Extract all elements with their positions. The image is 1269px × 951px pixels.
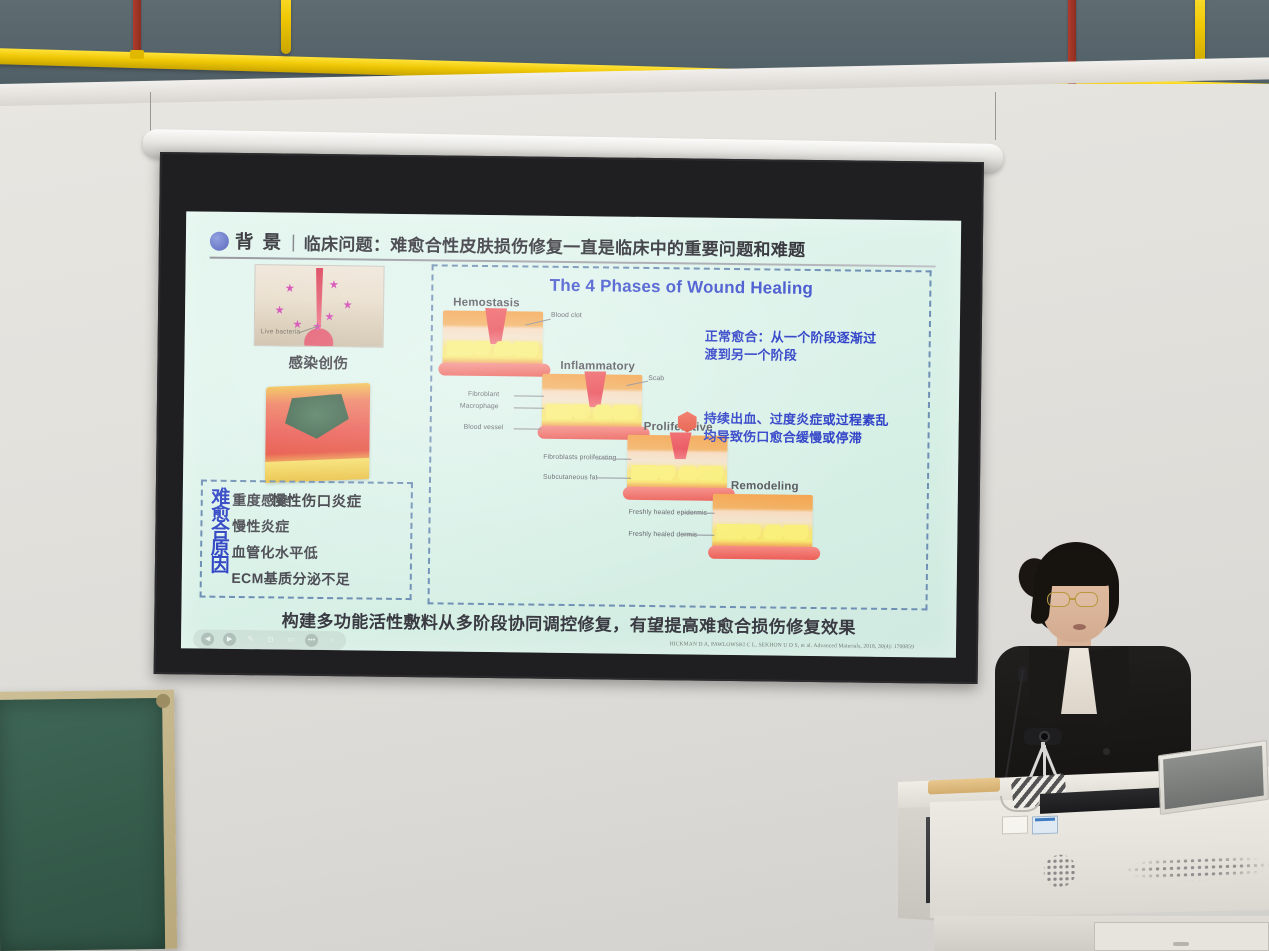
pipe-clamp-left	[130, 50, 144, 59]
reason-list: 重度感染 慢性炎症 血管化水平低 ECM基质分泌不足	[231, 487, 351, 592]
mouth	[1073, 624, 1086, 630]
yellow-gas-pipe-riser-left	[281, 0, 291, 54]
pen-tool-icon[interactable]: ✎	[245, 633, 256, 646]
blood-vessel-shape	[438, 362, 550, 376]
wound-gash	[485, 308, 507, 344]
slide-title-separator: |	[291, 231, 296, 252]
skin-block-hemostasis	[442, 310, 543, 369]
reason-item: 血管化水平低	[232, 542, 351, 563]
eyeglasses-left-lens	[1047, 592, 1070, 607]
bacteria-icon	[285, 284, 294, 293]
annotation-macrophage: Macrophage	[460, 403, 499, 412]
blackboard	[0, 690, 177, 951]
plate-header-bar	[1035, 818, 1055, 822]
phases-title: The 4 Phases of Wound Healing	[550, 276, 814, 299]
wound-gash	[584, 371, 606, 407]
slide-citation: HICKMAN D A, PAWLOWSKI C L, SEKHON U D S…	[670, 641, 914, 650]
zoom-tool-icon[interactable]: ⊡	[265, 633, 276, 646]
presenter-view-icon[interactable]: ▭	[285, 634, 296, 647]
podium-info-plate	[1032, 816, 1058, 835]
pipe-support-bracket-left	[133, 0, 141, 56]
skin-block-remodeling	[712, 494, 813, 553]
bacteria-icon	[325, 312, 334, 321]
previous-slide-icon[interactable]: ◀	[201, 633, 214, 646]
lecture-room-scene: 背 景 | 临床问题：难愈合性皮肤损伤修复一直是临床中的重要问题和难题	[0, 0, 1269, 951]
annotation-subcutaneous-fat: Subcutaneous fat	[543, 474, 598, 483]
infected-wound-illustration: Live bacteria	[254, 264, 385, 348]
screen-hanging-cord-left	[150, 92, 151, 132]
note-abnormal-healing: 持续出血、过度炎症或过程素乱均导致伤口愈合缓慢或停滞	[703, 410, 889, 447]
live-bacteria-label: Live bacteria	[261, 328, 301, 335]
bacteria-icon	[293, 320, 302, 329]
hexagon-bullet-icon	[678, 411, 697, 432]
podium-dot-leaf-pattern	[1126, 848, 1269, 889]
leader-line	[514, 428, 542, 429]
bacteria-icon	[275, 305, 284, 314]
phase-label-inflammatory: Inflammatory	[560, 360, 635, 373]
presentation-control-bar[interactable]: ◀ ▶ ✎ ⊡ ▭ ••• ‹	[193, 629, 346, 650]
blackboard-corner-cap	[156, 694, 170, 708]
leader-line	[514, 395, 544, 396]
phase-label-remodeling: Remodeling	[731, 480, 799, 493]
note-abnormal-healing-row: 持续出血、过度炎症或过程素乱均导致伤口愈合缓慢或停滞	[677, 409, 889, 447]
wound-healing-panel: The 4 Phases of Wound Healing Hemostasis…	[427, 264, 931, 610]
annotation-scab: Scab	[648, 375, 664, 383]
more-options-icon[interactable]: •••	[305, 634, 318, 647]
podium-dot-logo-pattern	[1034, 845, 1086, 897]
reason-item: ECM基质分泌不足	[231, 568, 350, 589]
leader-line	[514, 407, 544, 408]
annotation-blood-clot: Blood clot	[551, 312, 582, 321]
bacteria-icon	[343, 300, 352, 309]
phase-label-hemostasis: Hemostasis	[453, 297, 520, 310]
left-column: Live bacteria 感染创伤 慢性伤口炎症	[217, 264, 420, 512]
eyeglasses-right-lens	[1075, 592, 1098, 607]
laptop-screen[interactable]	[1163, 746, 1264, 810]
podium-drawer-handle[interactable]	[1173, 942, 1189, 946]
skin-block-inflammatory	[542, 374, 643, 433]
reason-item: 重度感染	[232, 490, 351, 511]
podium-drawer[interactable]	[1094, 922, 1269, 951]
webcam-lens	[1039, 731, 1050, 742]
annotation-blood-vessel: Blood vessel	[464, 424, 504, 433]
bacteria-icon	[329, 280, 338, 289]
blood-vessel-shape	[708, 546, 820, 560]
reason-vertical-label: 难愈合原因	[210, 487, 227, 591]
presentation-slide[interactable]: 背 景 | 临床问题：难愈合性皮肤损伤修复一直是临床中的重要问题和难题	[181, 211, 961, 657]
next-slide-icon[interactable]: ▶	[223, 633, 236, 646]
screen-hanging-cord-right	[995, 92, 996, 140]
note-normal-healing: 正常愈合：从一个阶段逐渐过渡到另一个阶段	[704, 328, 886, 365]
infected-wound-caption: 感染创伤	[218, 351, 418, 374]
collapse-icon[interactable]: ‹	[327, 634, 338, 647]
eyeglasses-bridge	[1070, 598, 1075, 600]
leader-line	[597, 477, 631, 478]
slide-title-main: 背 景	[235, 228, 283, 255]
blackboard-surface	[0, 698, 165, 951]
jacket-button	[1103, 748, 1110, 755]
annotation-fibroblant: Fibroblant	[468, 391, 499, 400]
projector-screen: 背 景 | 临床问题：难愈合性皮肤损伤修复一直是临床中的重要问题和难题	[154, 152, 984, 684]
chronic-wound-illustration	[265, 383, 370, 483]
bullet-circle-icon	[210, 231, 229, 250]
reason-box: 难愈合原因 重度感染 慢性炎症 血管化水平低 ECM基质分泌不足	[200, 480, 413, 601]
reason-item: 慢性炎症	[232, 516, 351, 537]
podium-asset-plate	[1002, 816, 1028, 835]
slide-title-subtitle: 临床问题：难愈合性皮肤损伤修复一直是临床中的重要问题和难题	[304, 229, 806, 260]
wound-crack-shape	[311, 268, 328, 330]
